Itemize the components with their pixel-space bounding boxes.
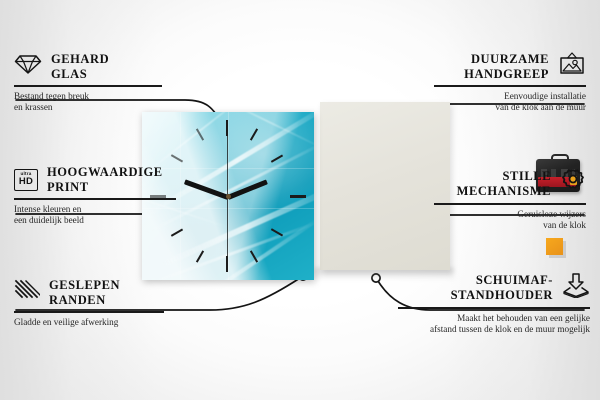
feature-divider (434, 203, 586, 205)
diamond-icon (14, 53, 42, 80)
clock-back-panel (320, 102, 450, 270)
product-image (142, 102, 450, 280)
feature-stille-mechanisme[interactable]: STILLEMECHANISME Geruisloze wijzers van … (434, 168, 586, 231)
feature-title: DUURZAMEHANDGREEP (464, 52, 549, 81)
feature-title: SCHUIMAF-STANDHOUDER (451, 273, 553, 302)
infographic-canvas: GEHARDGLAS Bestand tegen breuk en krasse… (0, 0, 600, 400)
feature-divider (398, 307, 590, 309)
feature-gehard-glas[interactable]: GEHARDGLAS Bestand tegen breuk en krasse… (14, 52, 164, 113)
feature-geslepen-randen[interactable]: GESLEPENRANDEN Gladde en veilige afwerki… (14, 278, 164, 328)
feature-hoogwaardige-print[interactable]: ultra HD HOOGWAARDIGEPRINT Intense kleur… (14, 165, 174, 226)
feature-divider (434, 85, 586, 87)
feature-title: STILLEMECHANISME (457, 169, 551, 198)
clock-pivot (226, 194, 231, 199)
feature-title: HOOGWAARDIGEPRINT (47, 165, 163, 194)
feature-title: GEHARDGLAS (51, 52, 109, 81)
feature-title: GESLEPENRANDEN (49, 278, 120, 307)
feature-duurzame-handgreep[interactable]: DUURZAMEHANDGREEP Eenvoudige installatie… (434, 52, 586, 113)
feature-description: Bestand tegen breuk en krassen (14, 91, 164, 114)
foam-spacer-pad (546, 238, 563, 255)
feature-header: ultra HD HOOGWAARDIGEPRINT (14, 165, 174, 194)
feature-schuimafstandhouder[interactable]: SCHUIMAF-STANDHOUDER Maakt het behouden … (398, 272, 590, 335)
picture-frame-icon (558, 52, 586, 81)
spacer-pad-icon (562, 272, 590, 303)
feature-header: GESLEPENRANDEN (14, 278, 164, 307)
feature-divider (14, 85, 162, 87)
feature-description: Maakt het behouden van een gelijke afsta… (398, 313, 590, 336)
feature-description: Gladde en veilige afwerking (14, 317, 164, 328)
feature-header: GEHARDGLAS (14, 52, 164, 81)
feature-header: SCHUIMAF-STANDHOUDER (398, 272, 590, 303)
feature-divider (14, 198, 176, 200)
feature-divider (14, 311, 164, 313)
feature-header: DUURZAMEHANDGREEP (434, 52, 586, 81)
feature-description: Geruisloze wijzers van de klok (434, 209, 586, 232)
beveled-edges-icon (14, 279, 40, 306)
gear-icon (560, 168, 586, 199)
feature-description: Eenvoudige installatie van de klok aan d… (434, 91, 586, 114)
ultra-hd-icon: ultra HD (14, 169, 38, 191)
feature-header: STILLEMECHANISME (434, 168, 586, 199)
feature-description: Intense kleuren en een duidelijk beeld (14, 204, 174, 227)
